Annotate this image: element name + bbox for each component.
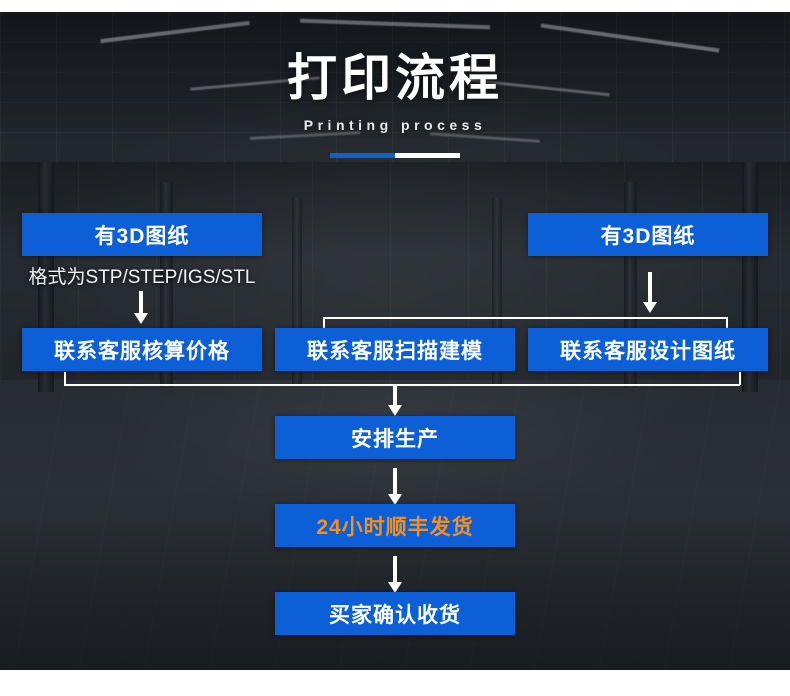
flow-box-24h-sf-express-shipping[interactable]: 24小时顺丰发货 [275, 504, 515, 547]
arrow-down-to-production [388, 384, 402, 416]
arrow-down-right-column [643, 272, 657, 313]
arrow-down-left-column [134, 291, 148, 324]
header-block: 打印流程 Printing process [0, 52, 790, 133]
flow-box-contact-service-design-drawing[interactable]: 联系客服设计图纸 [528, 328, 768, 371]
divider-segment-blue [330, 153, 395, 158]
page-subtitle: Printing process [0, 117, 790, 133]
arrow-down-to-receipt [388, 556, 402, 593]
flow-box-has-3d-drawing-right[interactable]: 有3D图纸 [528, 213, 768, 256]
page-title: 打印流程 [0, 52, 790, 105]
flow-caption-file-formats: 格式为STP/STEP/IGS/STL [22, 262, 262, 289]
flow-box-contact-service-scan-modeling[interactable]: 联系客服扫描建模 [275, 328, 515, 371]
connector-merge-left-riser [64, 372, 66, 385]
connector-bracket-top [323, 317, 727, 319]
flow-box-contact-service-pricing[interactable]: 联系客服核算价格 [22, 328, 262, 371]
divider-segment-white [395, 153, 460, 158]
title-divider [330, 153, 460, 158]
flow-box-buyer-confirm-receipt[interactable]: 买家确认收货 [275, 592, 515, 635]
infographic-canvas: 打印流程 Printing process 有3D图纸 格式为STP/STEP/… [0, 0, 790, 696]
arrow-down-to-shipping [388, 468, 402, 505]
connector-merge-right-riser [739, 372, 741, 385]
flow-box-arrange-production[interactable]: 安排生产 [275, 416, 515, 459]
connector-bracket-merge [64, 384, 740, 386]
flow-box-has-3d-drawing-left[interactable]: 有3D图纸 [22, 213, 262, 256]
